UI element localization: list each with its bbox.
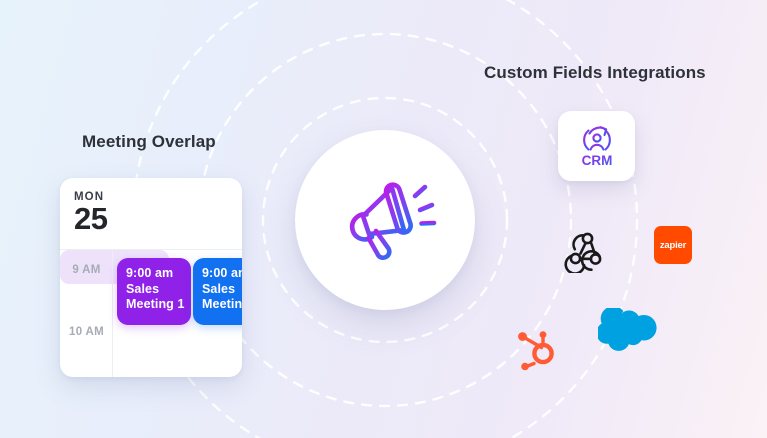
crm-wordmark: CRM bbox=[581, 153, 612, 168]
calendar-event-sales-meeting-1[interactable]: 9:00 am Sales Meeting 1 bbox=[117, 258, 191, 325]
event-time: 9:00 am bbox=[202, 266, 242, 282]
megaphone-icon bbox=[333, 168, 437, 272]
event-time: 9:00 am bbox=[126, 266, 191, 282]
event-title-line-1: Sales bbox=[126, 282, 191, 298]
crm-person-cycle-icon: CRM bbox=[572, 122, 622, 170]
meeting-overlap-title: Meeting Overlap bbox=[82, 132, 216, 152]
integration-logo-webhooks[interactable] bbox=[562, 227, 612, 273]
megaphone-badge bbox=[295, 130, 475, 310]
calendar-hour-label-10am: 10 AM bbox=[60, 326, 113, 338]
calendar-header: MON 25 bbox=[60, 178, 242, 250]
calendar-time-grid: 9 AM 10 AM 9:00 am Sales Meeting 1 9:00 … bbox=[60, 250, 242, 377]
event-title-line-2: Meeting 1 bbox=[126, 297, 191, 313]
event-title-line-1: Sales bbox=[202, 282, 242, 298]
integration-logo-hubspot[interactable] bbox=[512, 325, 560, 373]
illustration-canvas: Meeting Overlap Custom Fields Integratio… bbox=[0, 0, 767, 438]
webhooks-icon bbox=[562, 227, 612, 273]
zapier-wordmark: zapier bbox=[660, 240, 686, 251]
calendar-card: MON 25 9 AM 10 AM 9:00 am Sales Meeting … bbox=[60, 178, 242, 377]
integration-logo-salesforce[interactable] bbox=[598, 308, 660, 352]
integration-logo-zapier[interactable]: zapier bbox=[654, 226, 692, 264]
custom-fields-integrations-title: Custom Fields Integrations bbox=[484, 63, 706, 83]
event-title-line-2: Meeting 2 bbox=[202, 297, 242, 313]
calendar-day-number: 25 bbox=[74, 203, 242, 236]
integration-logo-crm[interactable]: CRM CRM bbox=[558, 111, 635, 181]
hubspot-sprocket-icon bbox=[512, 325, 560, 373]
salesforce-cloud-icon bbox=[598, 308, 660, 352]
calendar-event-sales-meeting-2[interactable]: 9:00 am Sales Meeting 2 bbox=[193, 258, 242, 325]
calendar-hour-label-9am: 9 AM bbox=[60, 264, 113, 276]
